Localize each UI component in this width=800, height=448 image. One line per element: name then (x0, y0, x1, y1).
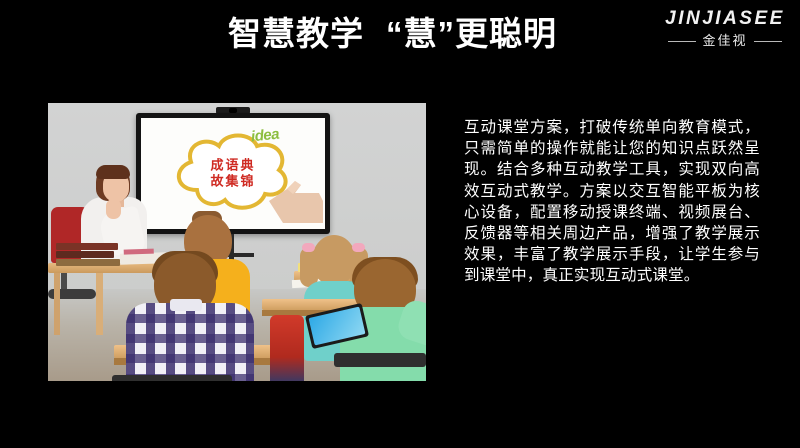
backpack (270, 315, 304, 381)
student-chair-1 (112, 375, 232, 381)
slide-root: 智慧教学“慧”更聪明 JINJIASEE 金佳视 idea (0, 0, 800, 448)
student-teal-bow-left (302, 243, 315, 252)
brand-logo-chinese: 金佳视 (702, 33, 747, 49)
teacher-desk-leg-2 (54, 273, 60, 335)
idea-text: idea (251, 126, 281, 146)
logo-rule-right (754, 41, 782, 42)
classroom-photo: idea 成语典 故集锦 (38, 94, 436, 391)
book-2 (56, 251, 114, 258)
brand-logo-subrow: 金佳视 (652, 33, 798, 49)
teacher-desk-leg (96, 273, 103, 335)
description-text: 互动课堂方案，打破传统单向教育模式，只需简单的操作就能让您的知识点跃然呈现。结合… (464, 117, 760, 287)
teacher-hand (106, 199, 121, 219)
teacher-hair-front (96, 165, 130, 179)
brand-logo-latin: JINJIASEE (652, 8, 798, 30)
logo-rule-left (668, 41, 696, 42)
student-plaid-torso (126, 303, 254, 381)
classroom-scene: idea 成语典 故集锦 (48, 103, 426, 381)
hand-pointing-icon (261, 167, 323, 223)
book-1 (56, 243, 118, 250)
student-plaid (126, 253, 254, 381)
student-teal-bow-right (352, 243, 365, 252)
book-3 (56, 259, 120, 266)
page-title: 智慧教学“慧”更聪明 (228, 12, 557, 56)
student-plaid-collar (170, 299, 202, 311)
book-stack (56, 243, 118, 265)
page-title-part1: 智慧教学 (228, 15, 364, 52)
student-chair-2 (334, 353, 426, 367)
brand-logo: JINJIASEE 金佳视 (652, 8, 798, 49)
page-title-part2: “慧”更聪明 (386, 15, 557, 52)
display-screen: idea 成语典 故集锦 (141, 118, 325, 229)
